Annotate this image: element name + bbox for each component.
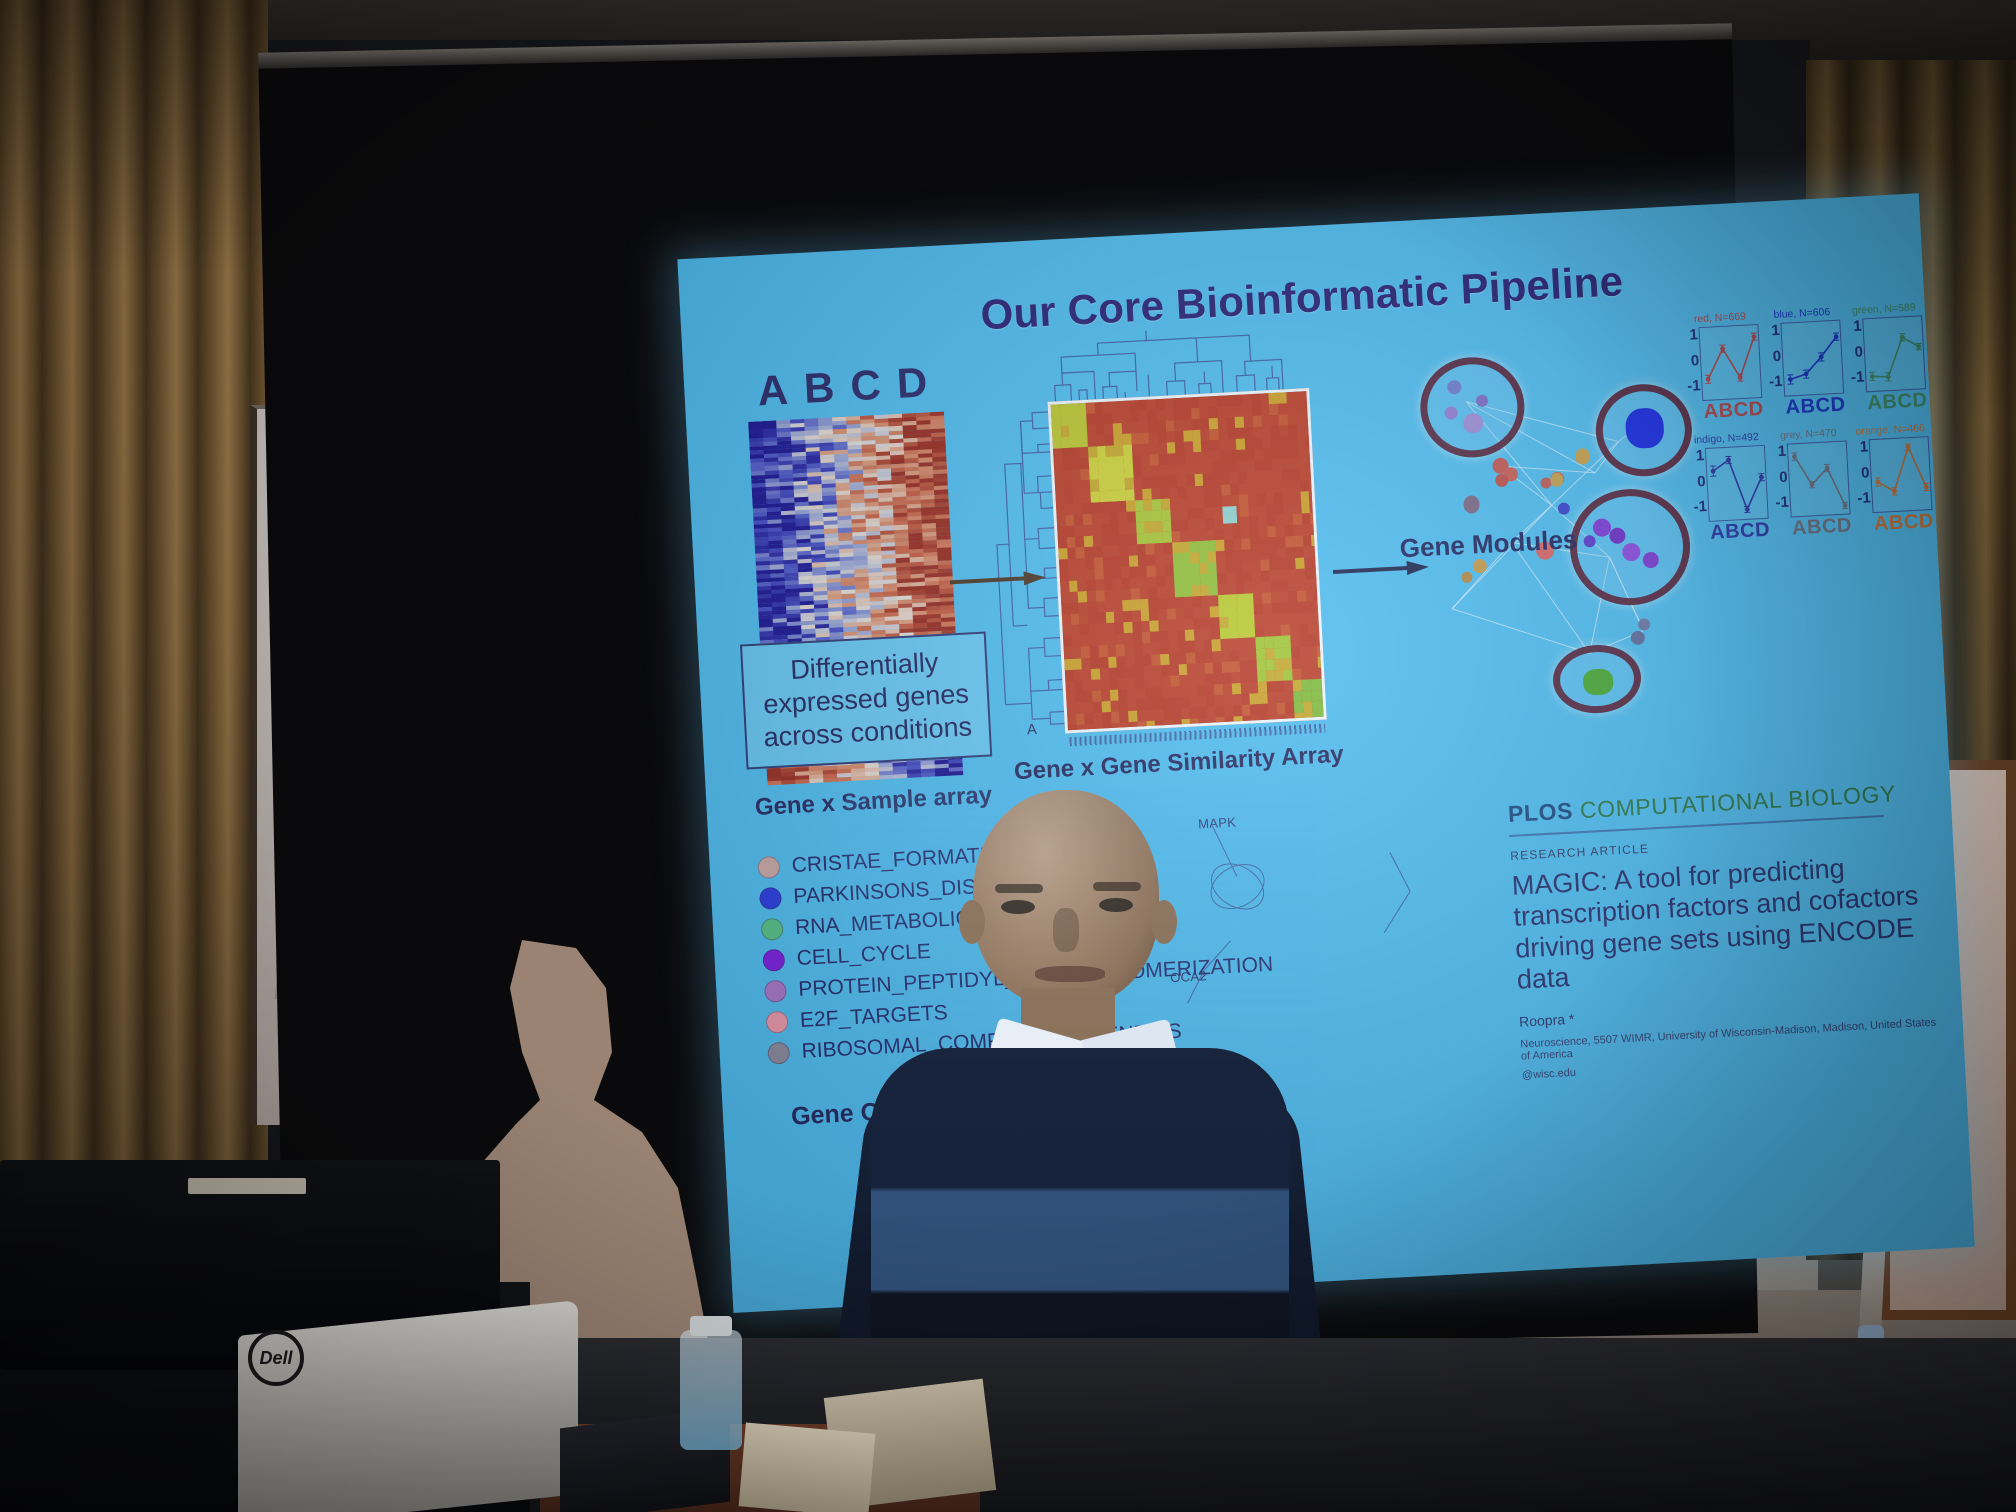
monitor-badge [188,1178,306,1194]
eigengene-x-label: A [1867,392,1882,416]
panel2-caption: Gene x Gene Similarity Array [998,740,1359,787]
eigengene-x-label: D [1755,519,1770,543]
presenter-eye-right [1099,898,1133,912]
eigengene-x-label: C [1821,515,1836,539]
presenter-eye-left [1001,900,1035,914]
water-bottle [680,1330,742,1450]
eigengene-x-label: B [1725,520,1740,544]
eigengene-x-label: D [1836,514,1851,538]
module-node-cluster [1625,407,1665,449]
eigengene-x-axis: ABCD [1784,394,1845,420]
eigengene-x-label: A [1710,521,1725,545]
plos-journal-header: PLOS COMPUTATIONAL BIOLOGY [1507,779,1928,828]
eigengene-plot-area [1705,445,1769,522]
gene-gene-heatmap [1047,388,1326,733]
go-term-color-dot [766,1011,789,1034]
panel2-axis-label: A [1026,721,1037,739]
col-header-c: C [849,361,884,411]
water-bottle-cap [690,1316,732,1336]
eigengene-row-top: red, N=66910-1ABCDblue, N=60610-1ABCDgre… [1682,301,1928,425]
col-header-b: B [803,363,838,413]
callout-box: Differentially expressed genes across co… [740,632,992,770]
eigengene-row-bottom: indigo, N=49210-1ABCDgrey, N=47010-1ABCD… [1688,422,1934,546]
curtain-left [0,0,268,1250]
eigengene-x-label: D [1912,389,1927,413]
eigengene-x-axis: ABCD [1866,389,1927,415]
presenter-brow-right [1093,882,1141,891]
go-term-color-dot [759,887,782,910]
eigengene-plot-area [1862,315,1926,392]
eigengene-plot-grey: grey, N=47010-1ABCD [1770,426,1852,541]
eigengene-plot-area [1869,436,1933,513]
eigengene-x-label: A [1785,396,1800,420]
presenter-nose [1053,908,1079,952]
eigengene-x-label: B [1888,512,1903,536]
eigengene-x-label: D [1748,398,1763,422]
eigengene-x-label: B [1882,391,1897,415]
module-node-cluster [1582,668,1613,696]
eigengene-x-axis: ABCD [1791,514,1852,540]
go-term-color-dot [762,949,785,972]
eigengene-x-axis: ABCD [1702,398,1763,424]
col-header-a: A [756,366,791,416]
eigengene-x-label: C [1903,511,1918,535]
papers-stack-2 [739,1422,876,1512]
eigengene-plot-area [1698,324,1762,401]
presenter-ear-right [1151,900,1177,944]
eigengene-x-axis: ABCD [1873,510,1934,536]
eigengene-plot-blue: blue, N=60610-1ABCD [1764,306,1846,421]
plos-article-title: MAGIC: A tool for predicting transcripti… [1511,849,1937,996]
eigengene-x-label: B [1806,516,1821,540]
photo-scene: Our Core Bioinformatic Pipeline A B C D … [0,0,2016,1512]
eigengene-plot-area [1780,320,1844,397]
eigengene-plot-title: blue, N=606 [1766,306,1839,321]
eigengene-x-label: B [1800,395,1815,419]
panel-eigengene-plots: red, N=66910-1ABCDblue, N=60610-1ABCDgre… [1682,301,1935,555]
panel-gene-sample-array: A B C D Gene x Sample array Differential… [725,356,999,823]
eigengene-plot-title: indigo, N=492 [1690,431,1763,446]
eigengene-plot-indigo: indigo, N=49210-1ABCD [1688,431,1770,546]
laptop-lid [238,1300,578,1512]
go-term-color-dot [764,980,787,1003]
eigengene-plot-title: green, N=589 [1847,302,1920,317]
presenter-ear-left [959,900,985,944]
eigengene-plot-orange: orange, N=46610-1ABCD [1852,422,1934,537]
eigengene-x-label: D [1830,394,1845,418]
col-header-d: D [896,358,931,408]
eigengene-x-label: A [1791,517,1806,541]
eigengene-x-label: C [1897,390,1912,414]
presenter-mouth [1035,966,1105,982]
eigengene-x-axis: ABCD [1709,519,1770,545]
eigengene-plot-red: red, N=66910-1ABCD [1682,310,1764,425]
go-term-color-dot [757,856,780,879]
eigengene-plot-title: red, N=669 [1684,310,1757,325]
eigengene-plot-area [1787,440,1851,517]
go-term-color-dot [761,918,784,941]
go-term-color-dot [767,1042,790,1065]
eigengene-x-label: A [1703,400,1718,424]
eigengene-x-label: C [1740,520,1755,544]
plos-brand: PLOS [1507,798,1573,827]
eigengene-plot-title: grey, N=470 [1772,427,1845,442]
eigengene-x-label: C [1733,399,1748,423]
dell-logo: Dell [248,1330,304,1386]
panel-gene-modules: Gene Modules [1383,327,1723,723]
eigengene-x-label: B [1718,400,1733,424]
eigengene-x-label: A [1873,512,1888,536]
eigengene-x-label: D [1918,510,1933,534]
eigengene-plot-title: orange, N=466 [1854,423,1927,438]
eigengene-plot-green: green, N=58910-1ABCD [1845,301,1927,416]
panel-plos-article: PLOS COMPUTATIONAL BIOLOGY RESEARCH ARTI… [1507,779,1941,1082]
sample-column-headers: A B C D [749,358,937,416]
presenter-brow-left [995,884,1043,893]
eigengene-x-label: C [1815,394,1830,418]
